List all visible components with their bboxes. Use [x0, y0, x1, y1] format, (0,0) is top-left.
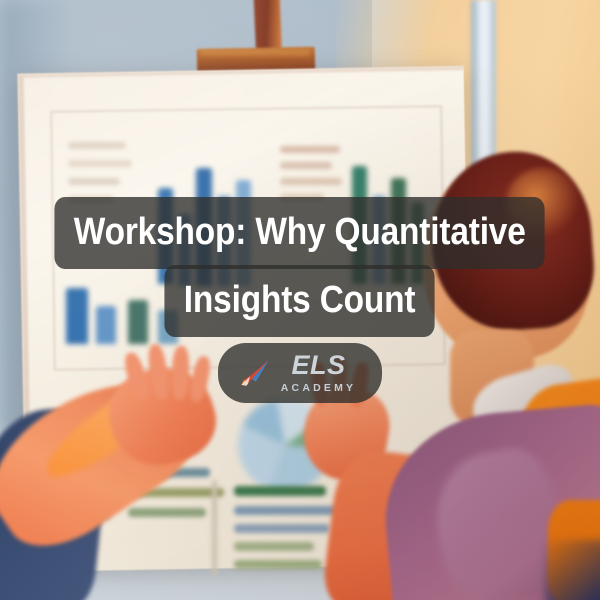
brand-logo-badge[interactable]: ELS ACADEMY: [218, 343, 383, 404]
brand-logo-text: ELS ACADEMY: [281, 352, 357, 394]
brand-subtitle: ACADEMY: [281, 383, 357, 394]
brand-name: ELS: [291, 352, 345, 379]
banner-canvas: Workshop: Why Quantitative Insights Coun…: [0, 0, 600, 600]
paper-plane-icon: [238, 356, 272, 390]
banner-title-line-1: Workshop: Why Quantitative: [55, 197, 546, 269]
banner-overlay: Workshop: Why Quantitative Insights Coun…: [0, 0, 600, 600]
banner-title-line-2: Insights Count: [165, 265, 435, 337]
